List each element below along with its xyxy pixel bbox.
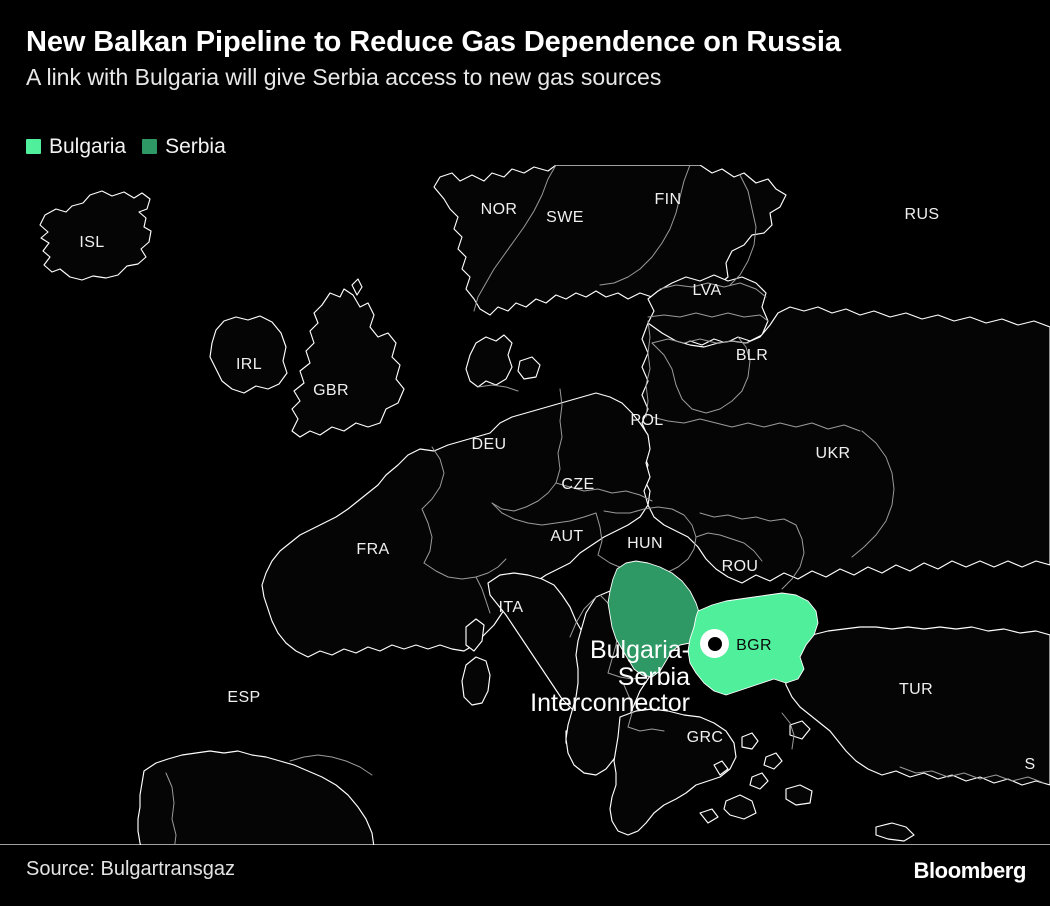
page-title: New Balkan Pipeline to Reduce Gas Depend…: [26, 26, 1016, 58]
country-label-rus: RUS: [905, 206, 940, 223]
country-label-rou: ROU: [722, 558, 759, 575]
chart-canvas: New Balkan Pipeline to Reduce Gas Depend…: [0, 0, 1050, 906]
country-shape-great-britain: [292, 289, 404, 437]
country-label-irl: IRL: [236, 356, 262, 373]
country-label-lva: LVA: [692, 282, 721, 299]
country-label-ita: ITA: [499, 599, 524, 616]
page-subtitle: A link with Bulgaria will give Serbia ac…: [26, 64, 1016, 92]
country-label-deu: DEU: [472, 436, 507, 453]
country-label-aut: AUT: [550, 528, 583, 545]
source-note: Source: Bulgartransgaz: [26, 858, 235, 881]
legend: Bulgaria Serbia: [26, 136, 226, 157]
country-label-nor: NOR: [481, 201, 518, 218]
shape-sardinia: [462, 657, 490, 705]
country-label-blr: BLR: [736, 347, 768, 364]
country-label-ukr: UKR: [816, 445, 851, 462]
country-label-swe: SWE: [546, 209, 584, 226]
legend-label-serbia: Serbia: [165, 136, 226, 157]
europe-map[interactable]: ISLNORSWEFINRUSLVABLRIRLGBRPOLDEUUKRCZEA…: [0, 165, 1050, 845]
country-label-hun: HUN: [627, 535, 663, 552]
country-label-fin: FIN: [655, 191, 682, 208]
country-shape-turkey: [784, 627, 1050, 785]
country-label-tur: TUR: [899, 681, 933, 698]
legend-item-bulgaria[interactable]: Bulgaria: [26, 136, 126, 157]
interconnector-marker-icon[interactable]: [700, 629, 729, 658]
country-label-fra: FRA: [356, 541, 389, 558]
country-label-cze: CZE: [561, 476, 594, 493]
country-label-s: S: [1024, 756, 1035, 773]
country-label-grc: GRC: [687, 729, 724, 746]
legend-swatch-serbia: [142, 139, 157, 154]
bloomberg-logo: Bloomberg: [913, 858, 1026, 884]
header: New Balkan Pipeline to Reduce Gas Depend…: [26, 26, 1016, 92]
country-label-pol: POL: [630, 412, 663, 429]
legend-label-bulgaria: Bulgaria: [49, 136, 126, 157]
legend-swatch-bulgaria: [26, 139, 41, 154]
shape-zealand: [518, 357, 540, 379]
shape-cyprus: [876, 823, 914, 841]
shape-outer-hebrides: [352, 279, 362, 295]
country-shape-ireland: [210, 316, 287, 393]
country-label-bgr: BGR: [736, 637, 772, 654]
country-label-isl: ISL: [79, 234, 104, 251]
country-shape-denmark: [466, 335, 512, 387]
country-label-esp: ESP: [227, 689, 260, 706]
footer: Source: Bulgartransgaz Bloomberg: [0, 848, 1050, 906]
country-label-gbr: GBR: [313, 382, 349, 399]
legend-item-serbia[interactable]: Serbia: [142, 136, 226, 157]
